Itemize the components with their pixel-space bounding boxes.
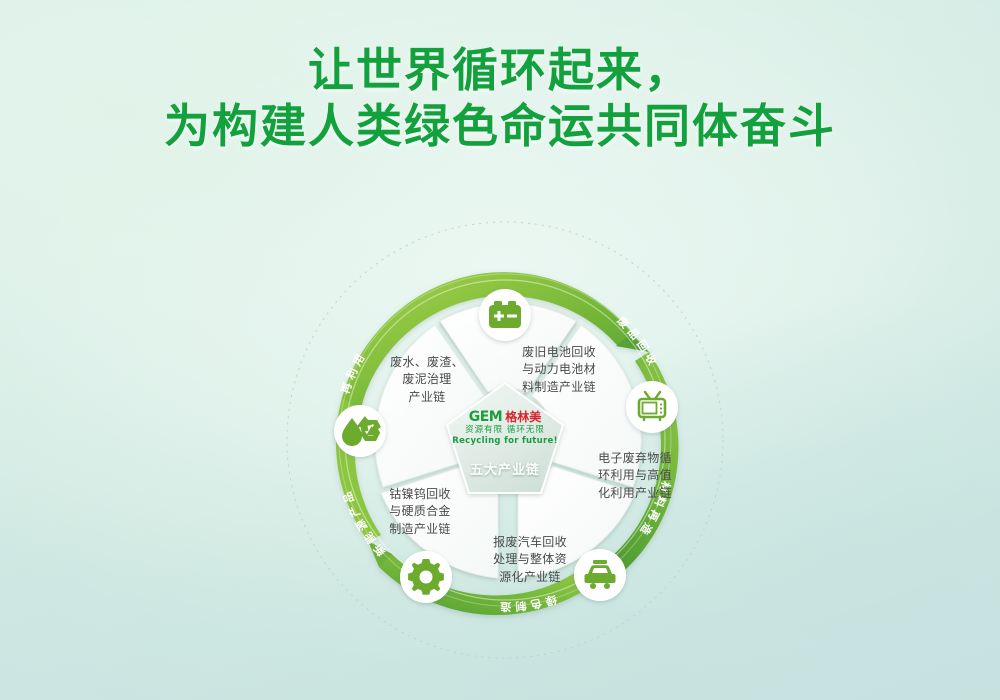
- icon-bubble-car[interactable]: [574, 549, 626, 601]
- battery-icon: [489, 301, 521, 328]
- poster-canvas: 让世界循环起来， 为构建人类绿色命运共同体奋斗: [0, 0, 1000, 700]
- headline-line-2: 为构建人类绿色命运共同体奋斗: [0, 98, 1000, 154]
- gear-icon: [408, 559, 444, 595]
- headline-line-1: 让世界循环起来，: [0, 42, 1000, 98]
- circular-industry-diagram: 废品回收 再利用 材料再造 绿色制造 新能源产品: [280, 215, 730, 665]
- icon-bubble-battery[interactable]: [479, 289, 531, 341]
- icon-bubble-water-recycle[interactable]: [334, 405, 386, 457]
- icon-bubble-gear[interactable]: [400, 551, 452, 603]
- icon-bubble-television[interactable]: [626, 381, 678, 433]
- page-title: 让世界循环起来， 为构建人类绿色命运共同体奋斗: [0, 42, 1000, 154]
- ring-label-new-energy-products: 新能源产品: [339, 486, 388, 559]
